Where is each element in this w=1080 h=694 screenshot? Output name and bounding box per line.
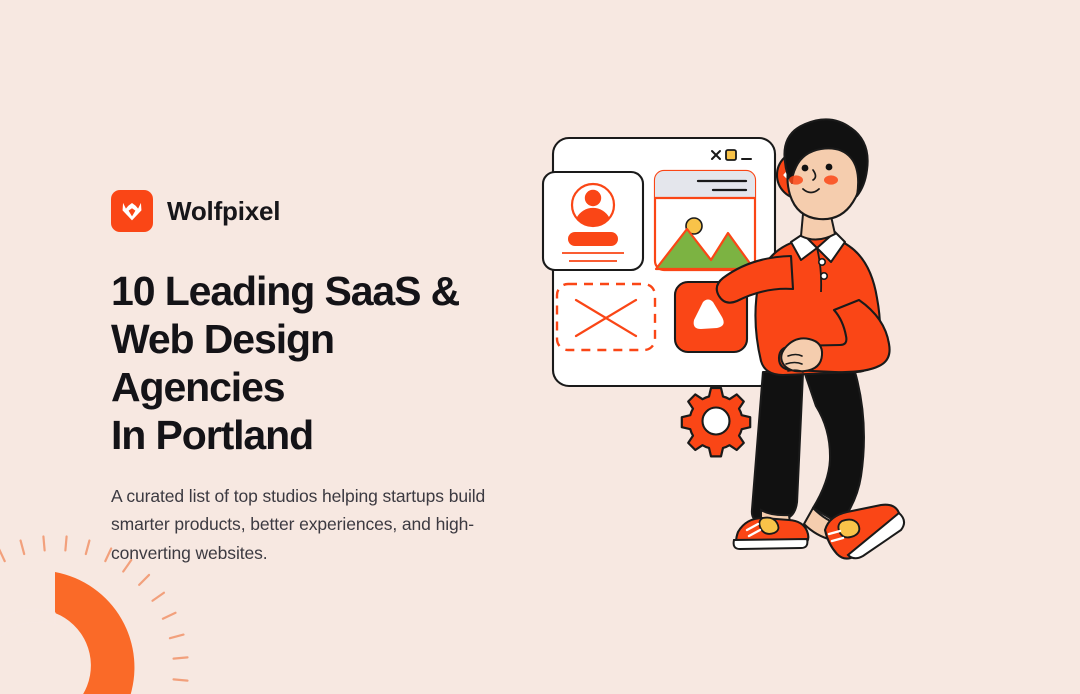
page-subtitle: A curated list of top studios helping st… <box>111 482 516 567</box>
hero-content: Wolfpixel 10 Leading SaaS & Web Design A… <box>111 190 541 567</box>
hero-banner: Wolfpixel 10 Leading SaaS & Web Design A… <box>0 0 1080 694</box>
decorative-arc-ring <box>0 572 134 694</box>
headline-line-2: Web Design Agencies <box>111 316 334 410</box>
brand-name: Wolfpixel <box>167 198 280 224</box>
character-head <box>784 119 867 219</box>
image-card <box>655 171 755 270</box>
shoe-left <box>734 518 809 549</box>
headline-line-3: In Portland <box>111 412 313 458</box>
wolf-head-icon <box>111 190 153 232</box>
maximize-icon <box>726 150 736 160</box>
profile-card <box>543 172 643 270</box>
gear-icon <box>682 388 750 456</box>
page-title: 10 Leading SaaS & Web Design Agencies In… <box>111 268 511 460</box>
hero-illustration <box>535 110 1065 580</box>
headline-line-1: 10 Leading SaaS & <box>111 268 459 314</box>
brand-lockup[interactable]: Wolfpixel <box>111 190 541 232</box>
browser-window-mockup <box>543 138 775 386</box>
